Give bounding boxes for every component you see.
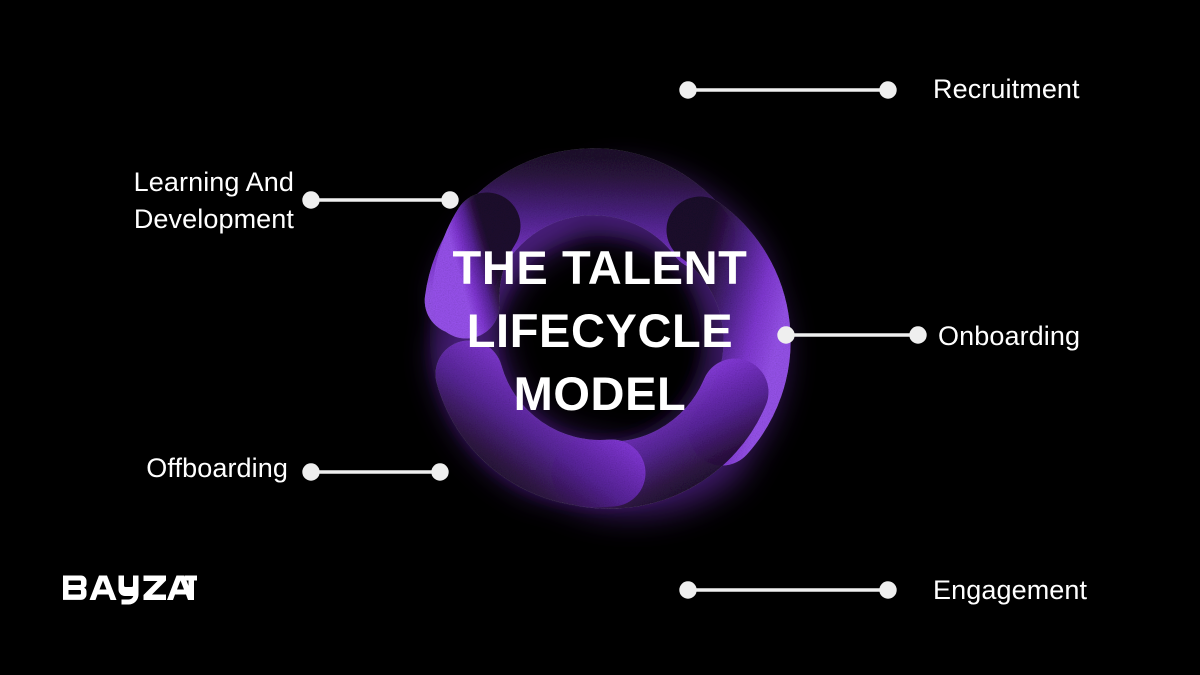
connector-dot-outer <box>304 193 318 207</box>
stage-label-onboarding[interactable]: Onboarding <box>938 318 1080 355</box>
stage-label-engagement[interactable]: Engagement <box>933 572 1087 609</box>
bayzat-logo-mark <box>62 572 197 606</box>
connector-dot-inner <box>433 465 447 479</box>
connector-dot-outer <box>881 83 895 97</box>
slide-canvas: THE TALENT LIFECYCLE MODEL <box>0 0 1200 675</box>
connector-dot-outer <box>881 583 895 597</box>
connector-recruitment <box>681 83 895 97</box>
stage-label-offboarding[interactable]: Offboarding <box>0 450 288 487</box>
connector-onboarding <box>779 328 925 342</box>
stage-label-recruitment[interactable]: Recruitment <box>933 71 1080 108</box>
connector-dot-outer <box>911 328 925 342</box>
connector-dot-inner <box>443 193 457 207</box>
connector-dot-outer <box>304 465 318 479</box>
connector-learning-and-development <box>304 193 457 207</box>
connector-offboarding <box>304 465 447 479</box>
bayzat-logo[interactable]: BAYZAT <box>62 572 197 606</box>
connector-engagement <box>681 583 895 597</box>
stage-label-learning-and-development[interactable]: Learning And Development <box>0 164 294 238</box>
connector-dot-inner <box>681 83 695 97</box>
connector-dot-inner <box>681 583 695 597</box>
connector-dot-inner <box>779 328 793 342</box>
